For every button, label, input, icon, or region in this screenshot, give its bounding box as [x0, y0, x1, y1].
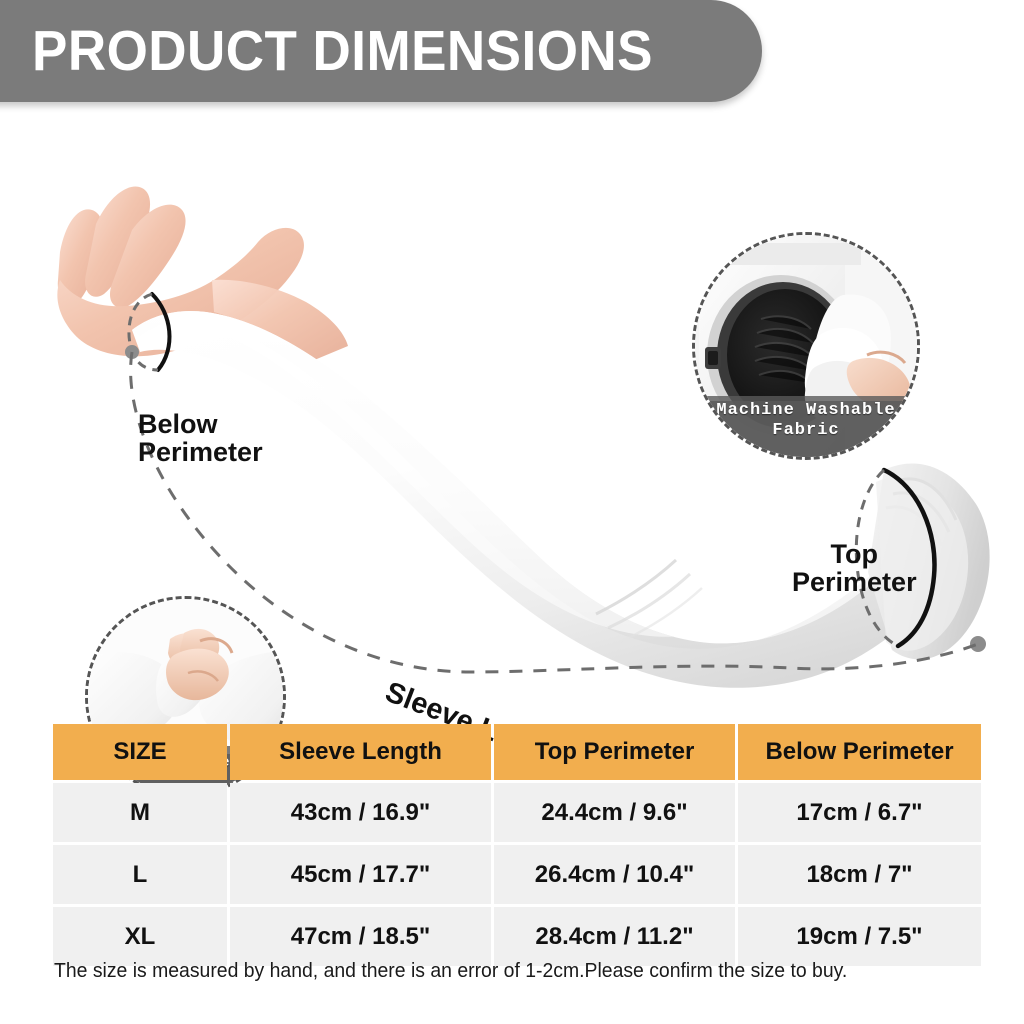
size-table: SIZE Sleeve Length Top Perimeter Below P… — [53, 724, 978, 966]
product-illustration: Below Perimeter Top Perimeter Sleeve Len… — [0, 102, 1024, 712]
table-row: L 45cm / 17.7" 26.4cm / 10.4" 18cm / 7" — [53, 845, 978, 904]
cell-top-perimeter: 28.4cm / 11.2" — [494, 907, 735, 966]
callout-top-perimeter: Top Perimeter — [792, 540, 917, 597]
infographic-root: PRODUCT DIMENSIONS — [0, 0, 1024, 1024]
cell-top-perimeter: 24.4cm / 9.6" — [494, 783, 735, 842]
cell-sleeve-length: 45cm / 17.7" — [230, 845, 491, 904]
cell-below-perimeter: 18cm / 7" — [738, 845, 981, 904]
column-header-size: SIZE — [53, 724, 227, 780]
inset-machine-washable: Machine Washable Fabric — [692, 232, 920, 460]
table-row: M 43cm / 16.9" 24.4cm / 9.6" 17cm / 6.7" — [53, 783, 978, 842]
cell-size: L — [53, 845, 227, 904]
top-perimeter-anchor-dot — [970, 636, 986, 652]
table-header-row: SIZE Sleeve Length Top Perimeter Below P… — [53, 724, 978, 780]
cell-below-perimeter: 17cm / 6.7" — [738, 783, 981, 842]
header-banner: PRODUCT DIMENSIONS — [0, 0, 762, 102]
cell-size: M — [53, 783, 227, 842]
table-row: XL 47cm / 18.5" 28.4cm / 11.2" 19cm / 7.… — [53, 907, 978, 966]
column-header-below-perimeter: Below Perimeter — [738, 724, 981, 780]
cell-size: XL — [53, 907, 227, 966]
inset-caption-machine-washable: Machine Washable Fabric — [695, 396, 917, 457]
cell-top-perimeter: 26.4cm / 10.4" — [494, 845, 735, 904]
cell-below-perimeter: 19cm / 7.5" — [738, 907, 981, 966]
callout-below-perimeter: Below Perimeter — [138, 410, 263, 467]
column-header-top-perimeter: Top Perimeter — [494, 724, 735, 780]
cell-sleeve-length: 47cm / 18.5" — [230, 907, 491, 966]
page-title: PRODUCT DIMENSIONS — [32, 18, 653, 84]
cell-sleeve-length: 43cm / 16.9" — [230, 783, 491, 842]
size-disclaimer: The size is measured by hand, and there … — [54, 960, 966, 983]
column-header-sleeve-length: Sleeve Length — [230, 724, 491, 780]
